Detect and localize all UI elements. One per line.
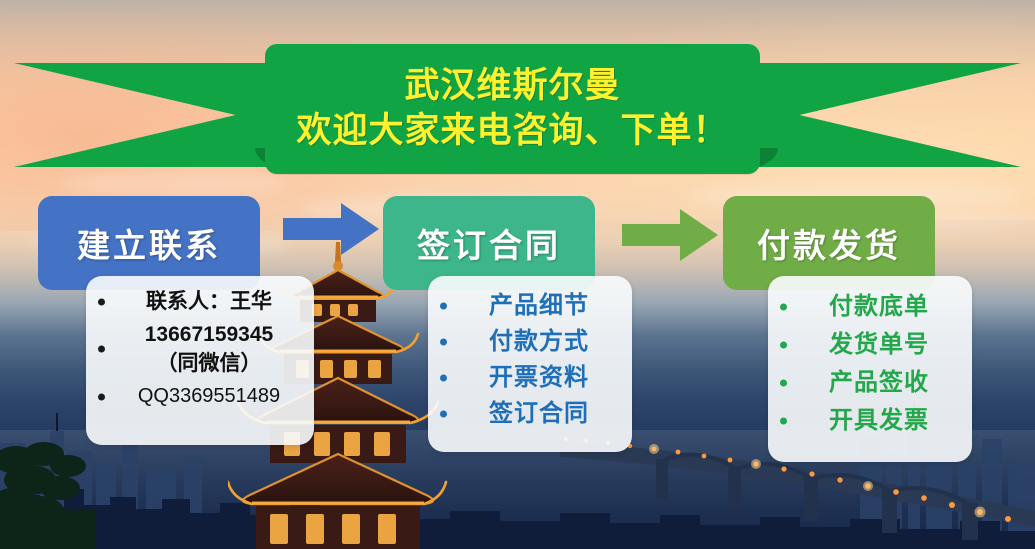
list-item: 发货单号 (796, 326, 962, 364)
bullet-icon (780, 380, 787, 387)
bullet-icon (440, 411, 447, 418)
list-item: 产品签收 (796, 364, 962, 402)
list-item: 产品细节 (456, 288, 622, 324)
list-item: 联系人：王华 (114, 288, 304, 315)
list-item: 付款底单 (796, 288, 962, 326)
list-item: 付款方式 (456, 324, 622, 360)
list-item-label: 联系人：王华 (146, 290, 272, 313)
arrow-step1-to-step2-icon (283, 203, 379, 255)
bullet-icon (98, 346, 105, 353)
step-body-payment-shipping: 付款底单 发货单号 产品签收 开具发票 (768, 276, 972, 462)
list-item-sublabel: （同微信） (114, 349, 304, 378)
list-item: 开具发票 (796, 402, 962, 440)
bullet-icon (98, 298, 105, 305)
bullet-icon (780, 342, 787, 349)
list-item-label: 产品细节 (489, 292, 589, 319)
bullet-icon (780, 304, 787, 311)
list-item: 开票资料 (456, 360, 622, 396)
list-item-label: 产品签收 (829, 369, 929, 396)
list-item: QQ3369551489 (114, 383, 304, 410)
banner-ribbon: 武汉维斯尔曼 欢迎大家来电咨询、下单！ (0, 44, 1035, 179)
poster-canvas: 武汉维斯尔曼 欢迎大家来电咨询、下单！ 建立联系 联系人：王华 13667159… (0, 0, 1035, 549)
list-item-label: 13667159345 (145, 323, 273, 346)
list-item-label: 开票资料 (489, 364, 589, 391)
step-body-establish-contact: 联系人：王华 13667159345 （同微信） QQ3369551489 (86, 276, 314, 445)
bullet-icon (440, 339, 447, 346)
banner-panel: 武汉维斯尔曼 欢迎大家来电咨询、下单！ (265, 44, 760, 174)
list-item-label: 开具发票 (829, 407, 929, 434)
list-item: 13667159345 （同微信） (114, 320, 304, 378)
banner-subtitle: 欢迎大家来电咨询、下单！ (296, 108, 728, 154)
list-item: 签订合同 (456, 396, 622, 432)
bullet-icon (98, 393, 105, 400)
step-body-sign-contract: 产品细节 付款方式 开票资料 签订合同 (428, 276, 632, 452)
list-item-label: QQ3369551489 (138, 385, 280, 407)
bullet-icon (780, 418, 787, 425)
list-item-label: 发货单号 (829, 331, 929, 358)
list-item-label: 付款方式 (489, 328, 589, 355)
list-item-label: 签订合同 (489, 400, 589, 427)
bullet-icon (440, 303, 447, 310)
list-item-label: 付款底单 (829, 293, 929, 320)
arrow-step2-to-step3-icon (622, 209, 718, 261)
banner-title: 武汉维斯尔曼 (404, 64, 620, 108)
bullet-icon (440, 375, 447, 382)
